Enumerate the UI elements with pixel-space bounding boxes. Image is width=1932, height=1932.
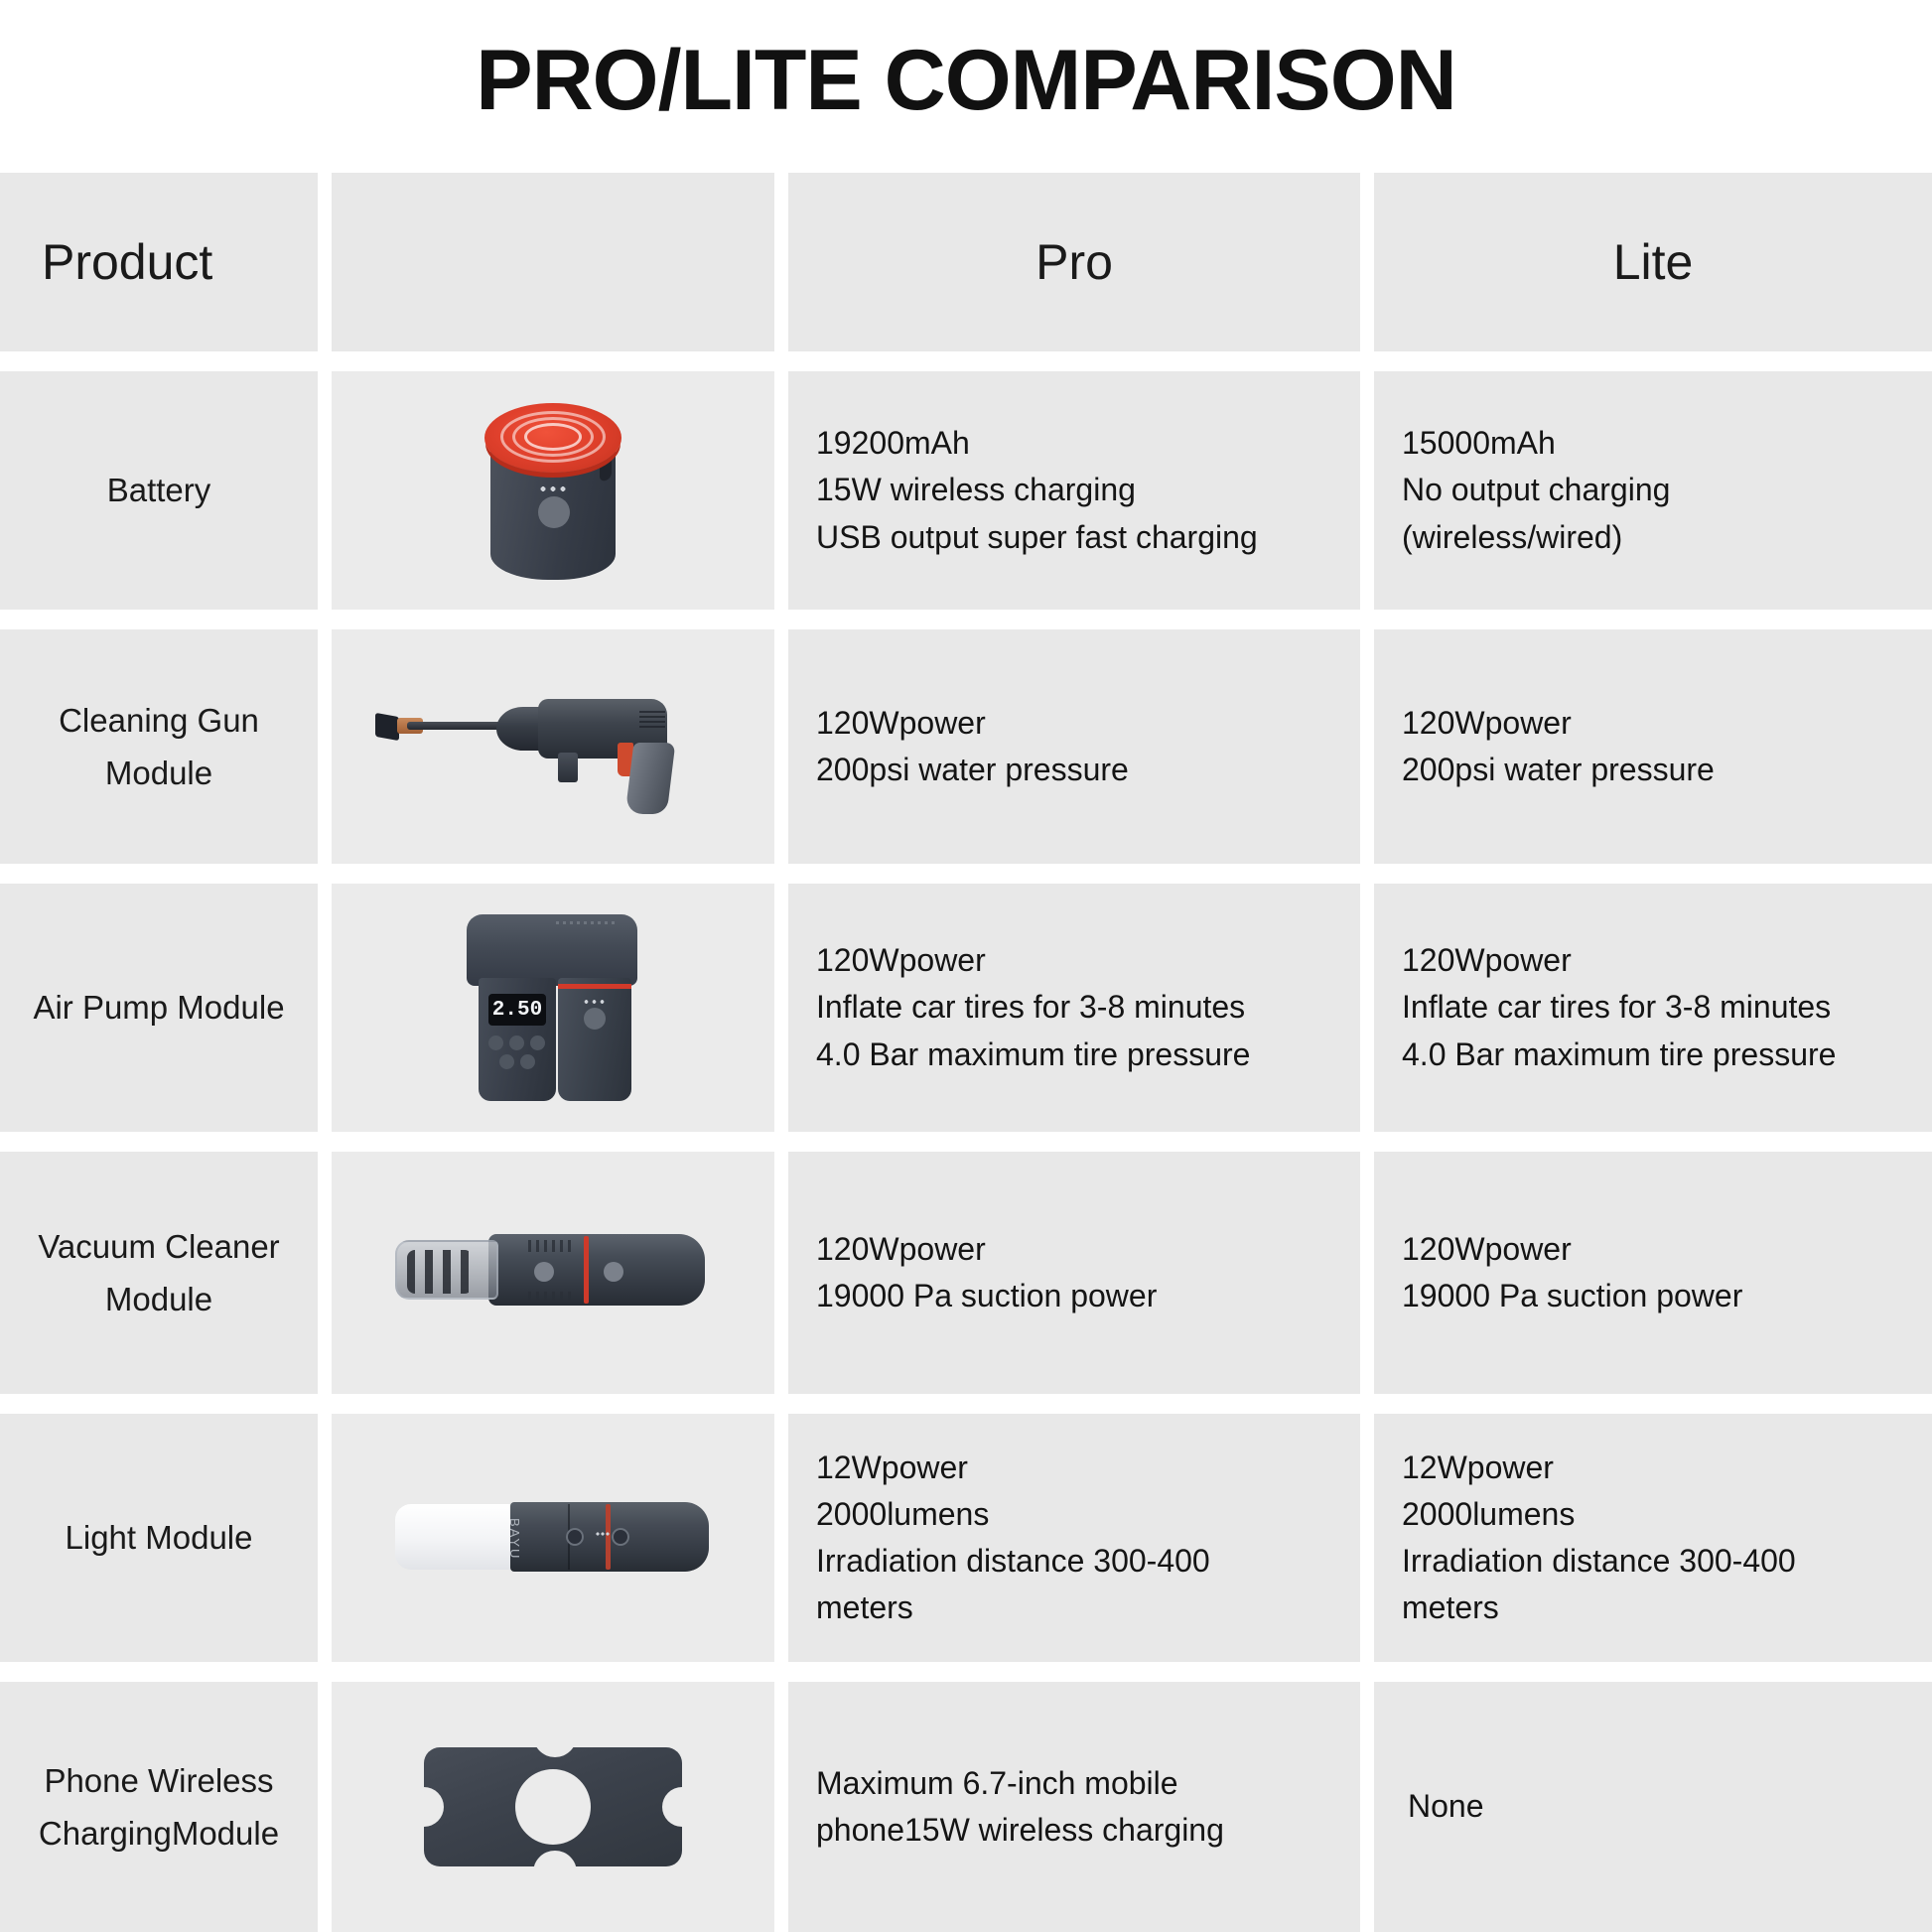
header-cell-pro: Pro: [788, 173, 1374, 371]
table-row-label-cleaning-gun: Cleaning Gun Module: [0, 629, 332, 884]
page-title: PRO/LITE COMPARISON: [0, 0, 1932, 155]
phone-wireless-charging-module-image: [332, 1682, 788, 1932]
wireless-charging-pad-icon: [424, 1741, 682, 1872]
header-cell-image: [332, 173, 788, 371]
header-label-lite: Lite: [1613, 233, 1694, 291]
air-pump-icon: 2.50: [459, 910, 647, 1105]
table-cell-pro-air-pump: 120Wpower Inflate car tires for 3-8 minu…: [788, 884, 1374, 1152]
cleaning-gun-module-image: [332, 629, 788, 884]
light-module-icon: BAYU: [389, 1486, 717, 1589]
table-cell-lite-air-pump: 120Wpower Inflate car tires for 3-8 minu…: [1374, 884, 1932, 1152]
table-cell-pro-light: 12Wpower 2000lumens Irradiation distance…: [788, 1414, 1374, 1682]
air-pump-module-image: 2.50: [332, 884, 788, 1152]
table-cell-pro-cleaning-gun: 120Wpower 200psi water pressure: [788, 629, 1374, 884]
battery-module-image: [332, 371, 788, 629]
table-row-label-air-pump: Air Pump Module: [0, 884, 332, 1152]
comparison-table: Product Pro Lite Battery 19200mAh 15W wi…: [0, 173, 1932, 1932]
table-cell-pro-battery: 19200mAh 15W wireless charging USB outpu…: [788, 371, 1374, 629]
light-module-brand-label: BAYU: [507, 1518, 522, 1560]
table-row-label-light: Light Module: [0, 1414, 332, 1682]
header-cell-product: Product: [0, 173, 332, 371]
table-cell-lite-light: 12Wpower 2000lumens Irradiation distance…: [1374, 1414, 1932, 1682]
air-pump-display-value: 2.50: [492, 999, 542, 1022]
table-row-label-battery: Battery: [0, 371, 332, 629]
table-cell-lite-battery: 15000mAh No output charging (wireless/wi…: [1374, 371, 1932, 629]
battery-icon: [479, 393, 627, 588]
table-row-label-phone-wireless-charging: Phone Wireless ChargingModule: [0, 1682, 332, 1932]
table-cell-pro-vacuum-cleaner: 120Wpower 19000 Pa suction power: [788, 1152, 1374, 1414]
vacuum-cleaner-icon: [389, 1218, 717, 1327]
table-cell-lite-cleaning-gun: 120Wpower 200psi water pressure: [1374, 629, 1932, 884]
table-cell-lite-vacuum-cleaner: 120Wpower 19000 Pa suction power: [1374, 1152, 1932, 1414]
cleaning-gun-icon: [369, 677, 737, 816]
table-row-label-vacuum-cleaner: Vacuum Cleaner Module: [0, 1152, 332, 1414]
light-module-image: BAYU: [332, 1414, 788, 1682]
header-cell-lite: Lite: [1374, 173, 1932, 371]
header-label-product: Product: [42, 233, 212, 291]
header-label-pro: Pro: [1035, 233, 1113, 291]
vacuum-cleaner-module-image: [332, 1152, 788, 1414]
table-cell-lite-phone-wireless-charging: None: [1374, 1682, 1932, 1932]
comparison-page: PRO/LITE COMPARISON Product Pro Lite Bat…: [0, 0, 1932, 1932]
table-cell-pro-phone-wireless-charging: Maximum 6.7-inch mobile phone15W wireles…: [788, 1682, 1374, 1932]
